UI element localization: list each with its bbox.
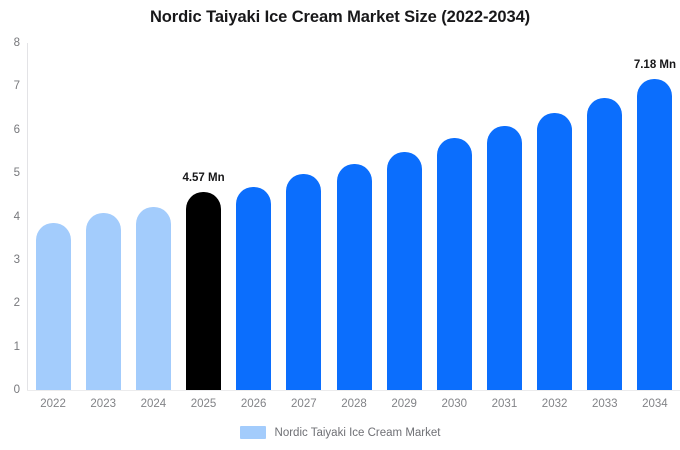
x-axis-tick: 2031 bbox=[479, 398, 529, 410]
x-axis-tick: 2032 bbox=[530, 398, 580, 410]
bar-chart: Nordic Taiyaki Ice Cream Market Size (20… bbox=[0, 0, 680, 450]
x-axis-tick: 2022 bbox=[28, 398, 78, 410]
y-axis-tick: 5 bbox=[14, 167, 20, 179]
y-axis-tick: 6 bbox=[14, 124, 20, 136]
y-axis-tick: 7 bbox=[14, 80, 20, 92]
y-axis-tick: 3 bbox=[14, 254, 20, 266]
x-axis-tick: 2028 bbox=[329, 398, 379, 410]
legend-swatch-icon bbox=[240, 426, 266, 439]
x-axis-tick: 2024 bbox=[128, 398, 178, 410]
y-axis-tick: 4 bbox=[14, 211, 20, 223]
y-axis-tick: 1 bbox=[14, 341, 20, 353]
legend-item[interactable]: Nordic Taiyaki Ice Cream Market bbox=[240, 426, 441, 439]
x-axis-tick: 2033 bbox=[580, 398, 630, 410]
x-axis-tick: 2034 bbox=[630, 398, 680, 410]
x-axis-tick-labels: 2022202320242025202620272028202920302031… bbox=[28, 0, 680, 450]
x-axis-tick: 2023 bbox=[78, 398, 128, 410]
x-axis-tick: 2025 bbox=[178, 398, 228, 410]
y-axis-tick: 2 bbox=[14, 297, 20, 309]
x-axis-tick: 2026 bbox=[229, 398, 279, 410]
legend-item-label: Nordic Taiyaki Ice Cream Market bbox=[275, 427, 441, 439]
chart-legend: Nordic Taiyaki Ice Cream Market bbox=[0, 426, 680, 439]
x-axis-tick: 2030 bbox=[429, 398, 479, 410]
x-axis-tick: 2027 bbox=[279, 398, 329, 410]
x-axis-tick: 2029 bbox=[379, 398, 429, 410]
y-axis-tick: 0 bbox=[14, 384, 20, 396]
y-axis-tick: 8 bbox=[14, 37, 20, 49]
